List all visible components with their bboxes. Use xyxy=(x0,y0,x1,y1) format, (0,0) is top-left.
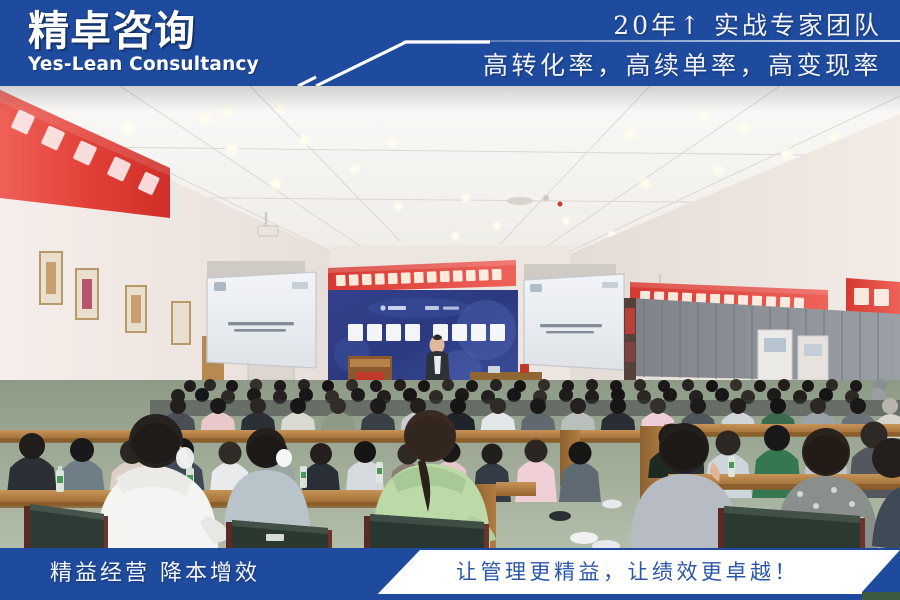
footer-left-slogan: 精益经营 降本增效 xyxy=(50,555,260,587)
header-tagline-primary: 20年↑ 实战专家团队 xyxy=(402,6,882,42)
header-rule xyxy=(402,40,900,42)
brand-logo: 精卓咨询 Yes-Lean Consultancy xyxy=(28,8,278,76)
brand-logo-en: Yes-Lean Consultancy xyxy=(28,54,278,76)
event-photo-illustration xyxy=(0,86,900,552)
event-photo xyxy=(0,86,900,552)
brand-logo-cn: 精卓咨询 xyxy=(28,8,278,54)
projection-screen-right xyxy=(524,264,624,370)
header-tagline-secondary: 高转化率，高续单率，高变现率 xyxy=(402,46,882,82)
projection-screen-left xyxy=(207,261,316,368)
page-footer: 精益经营 降本增效 让管理更精益，让绩效更卓越！ xyxy=(0,548,900,600)
poster-root: 精卓咨询 Yes-Lean Consultancy 20年↑ 实战专家团队 高转… xyxy=(0,0,900,600)
footer-right-slogan: 让管理更精益，让绩效更卓越！ xyxy=(456,556,799,586)
page-header: 精卓咨询 Yes-Lean Consultancy 20年↑ 实战专家团队 高转… xyxy=(0,0,900,86)
header-tagline-group: 20年↑ 实战专家团队 高转化率，高续单率，高变现率 xyxy=(402,0,882,86)
